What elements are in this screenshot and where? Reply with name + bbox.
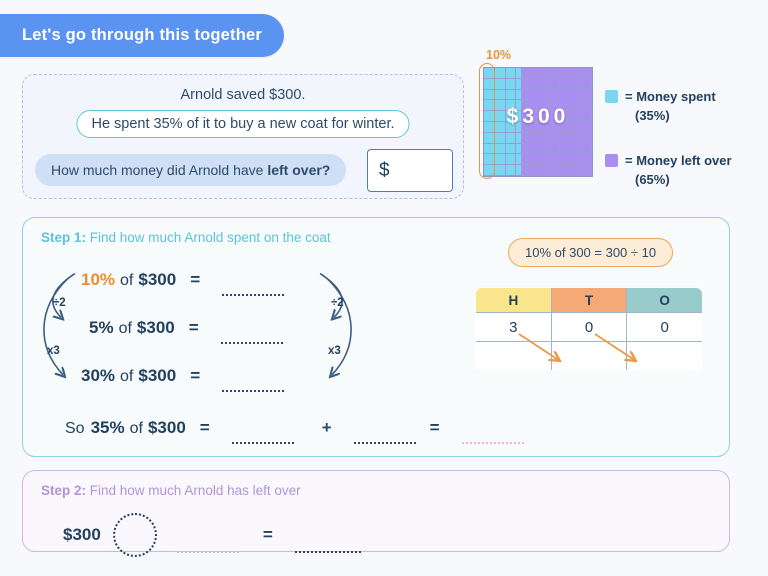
grid-cell: [538, 100, 549, 111]
grid-cell: [560, 165, 571, 176]
grid-cell: [516, 154, 527, 165]
grid-cell: [506, 154, 517, 165]
grid-cell: [549, 79, 560, 90]
grid-cell: [527, 154, 538, 165]
place-value-digit-row: 3 0 0: [476, 313, 703, 342]
step2-heading-text: Find how much Arnold has left over: [86, 483, 301, 498]
grid-cell: [581, 111, 592, 122]
legend: = Money spent (35%) = Money left over (6…: [605, 88, 765, 215]
place-value-header-hundreds: H: [476, 288, 552, 313]
grid-cell: [549, 122, 560, 133]
grid-cell: [484, 68, 495, 79]
grid-cell: [484, 100, 495, 111]
place-value-empty-row: [476, 342, 703, 371]
grid-cell: [495, 100, 506, 111]
grid-cell: [516, 90, 527, 101]
grid-cell: [549, 100, 560, 111]
equation-row-5-percent: 5% of $300 =: [89, 318, 283, 338]
hint-pill: 10% of 300 = 300 ÷ 10: [508, 238, 673, 267]
grid-cell: [516, 144, 527, 155]
grid-cell: [581, 144, 592, 155]
grid-cell: [484, 133, 495, 144]
eq2-percent: 5%: [89, 318, 114, 338]
grid-cell: [581, 133, 592, 144]
grid-cell: [495, 144, 506, 155]
eqf-of: of: [130, 420, 143, 438]
eqf-lead: So: [65, 420, 85, 438]
arrow-label-times3-right: x3: [328, 345, 341, 357]
eqf-amount: $300: [148, 418, 186, 438]
eq3-equals: =: [190, 366, 200, 386]
grid-cell: [495, 122, 506, 133]
grid-cell: [506, 111, 517, 122]
grid-cell: [549, 68, 560, 79]
grid-cell: [527, 79, 538, 90]
step2-answer-blank-1[interactable]: [177, 550, 239, 553]
grid-cell: [506, 144, 517, 155]
grid-cell: [516, 122, 527, 133]
grid-cell: [527, 68, 538, 79]
grid-cell: [581, 154, 592, 165]
grid-cell: [484, 165, 495, 176]
grid-cell: [570, 90, 581, 101]
grid-cell: [538, 144, 549, 155]
arrow-label-times3-left: x3: [47, 345, 60, 357]
grid-cell: [538, 111, 549, 122]
grid-cell: [538, 79, 549, 90]
grid-cell: [570, 68, 581, 79]
grid-cell: [495, 68, 506, 79]
grid-cell: [495, 79, 506, 90]
step2-heading: Step 2: Find how much Arnold has left ov…: [41, 483, 301, 498]
grid-cell: [484, 90, 495, 101]
place-value-empty-hundreds[interactable]: [476, 342, 552, 371]
question-prompt-pill: How much money did Arnold have left over…: [35, 154, 346, 186]
header-banner-text: Let's go through this together: [22, 26, 262, 45]
step2-equation-row: $300 =: [63, 513, 361, 557]
grid-cell: [484, 111, 495, 122]
equation-row-35-percent-total: So 35% of $300 = + =: [65, 418, 524, 438]
legend-percent-spent: (35%): [635, 107, 716, 126]
equation-row-10-percent: 10% of $300 =: [81, 270, 284, 290]
step2-answer-blank-2[interactable]: [295, 550, 361, 553]
grid-cell: [581, 68, 592, 79]
percent-grid-model: 10% $300: [483, 67, 593, 177]
grid-cell: [560, 79, 571, 90]
grid-cell: [560, 144, 571, 155]
step1-heading: Step 1: Find how much Arnold spent on th…: [41, 230, 331, 245]
grid-cell: [506, 122, 517, 133]
grid-cell: [484, 122, 495, 133]
eq2-equals: =: [189, 318, 199, 338]
question-line1: Arnold saved $300.: [23, 87, 463, 103]
question-statement-pill: He spent 35% of it to buy a new coat for…: [76, 110, 409, 138]
question-prompt-text: How much money did Arnold have: [51, 162, 267, 178]
grid-cell: [495, 165, 506, 176]
place-value-digit-tens: 0: [551, 313, 627, 342]
grid-cell: [484, 79, 495, 90]
eqf-percent: 35%: [91, 418, 125, 438]
grid-cell: [570, 111, 581, 122]
grid-cell: [506, 79, 517, 90]
grid-cell: [506, 100, 517, 111]
grid-cell: [549, 111, 560, 122]
question-prompt-emphasis: left over?: [267, 162, 330, 178]
grid-cell: [560, 122, 571, 133]
grid-cell: [506, 90, 517, 101]
eqf-equals-2: =: [430, 418, 440, 438]
grid-cell: [527, 90, 538, 101]
legend-item-spent: = Money spent (35%): [605, 88, 765, 126]
grid-cell: [527, 165, 538, 176]
grid-cell: [549, 165, 560, 176]
grid-cell: [570, 133, 581, 144]
currency-symbol: $: [379, 160, 390, 182]
step1-heading-text: Find how much Arnold spent on the coat: [86, 230, 331, 245]
grid-cell: [516, 111, 527, 122]
grid-cell: [527, 144, 538, 155]
eq3-of: of: [120, 368, 133, 386]
eq2-answer-blank[interactable]: [221, 341, 283, 344]
grid-cell: [538, 68, 549, 79]
place-value-digit-ones: 0: [627, 313, 703, 342]
equation-row-30-percent: 30% of $300 =: [81, 366, 284, 386]
grid-cell: [549, 144, 560, 155]
step2-heading-label: Step 2:: [41, 483, 86, 498]
eq1-of: of: [120, 272, 133, 290]
grid-cell: [560, 90, 571, 101]
grid-cell: [506, 165, 517, 176]
grid-cell: [506, 133, 517, 144]
grid-cell: [581, 100, 592, 111]
legend-label-spent: = Money spent: [625, 89, 716, 104]
eqf-equals: =: [200, 418, 210, 438]
step2-card: Step 2: Find how much Arnold has left ov…: [22, 470, 730, 552]
place-value-empty-ones[interactable]: [627, 342, 703, 371]
grid-cell: [549, 90, 560, 101]
place-value-header-ones: O: [627, 288, 703, 313]
grid-cell: [560, 100, 571, 111]
grid-highlight-label: 10%: [486, 48, 511, 62]
place-value-header-tens: T: [551, 288, 627, 313]
grid-cell: [527, 133, 538, 144]
arrow-label-divide2-left: ÷2: [53, 297, 66, 309]
grid-cell: [581, 165, 592, 176]
place-value-header-row: H T O: [476, 288, 703, 313]
grid-cell: [538, 154, 549, 165]
grid-cell: [516, 165, 527, 176]
grid-cell: [495, 111, 506, 122]
eq3-answer-blank[interactable]: [222, 389, 284, 392]
grid-cell: [495, 154, 506, 165]
grid-cell: [527, 111, 538, 122]
legend-percent-left: (65%): [635, 171, 732, 190]
eq1-amount: $300: [138, 270, 176, 290]
header-banner: Let's go through this together: [0, 14, 284, 57]
grid-cell: [538, 133, 549, 144]
grid-cell: [516, 133, 527, 144]
eqf-answer-blank-1[interactable]: [232, 441, 294, 444]
grid-cell: [549, 154, 560, 165]
grid-cell: [581, 90, 592, 101]
eq1-percent: 10%: [81, 270, 115, 290]
eqf-answer-blank-3[interactable]: [462, 441, 524, 444]
arrow-label-divide2-right: ÷2: [331, 297, 344, 309]
grid-cell: [516, 100, 527, 111]
grid-cell: [538, 122, 549, 133]
grid-cell: [570, 154, 581, 165]
legend-swatch-spent-icon: [605, 90, 618, 103]
grid-cell: [581, 79, 592, 90]
grid-cell: [570, 122, 581, 133]
step2-dropzone[interactable]: [113, 513, 157, 557]
grid-cell: [570, 144, 581, 155]
grid-cell: [484, 154, 495, 165]
grid-cell: [570, 100, 581, 111]
legend-label-left: = Money left over: [625, 153, 732, 168]
grid-cell: [581, 122, 592, 133]
step2-amount: $300: [63, 525, 101, 545]
grid-cell: [495, 90, 506, 101]
legend-item-left: = Money left over (65%): [605, 152, 765, 190]
eqf-plus: +: [322, 418, 332, 438]
eq1-equals: =: [190, 270, 200, 290]
grid-cell: [560, 133, 571, 144]
grid-cell: [484, 144, 495, 155]
step1-heading-label: Step 1:: [41, 230, 86, 245]
eqf-answer-blank-2[interactable]: [354, 441, 416, 444]
grid-cell: [506, 68, 517, 79]
eq2-of: of: [119, 320, 132, 338]
grid-cell: [516, 68, 527, 79]
place-value-table: H T O 3 0 0: [475, 287, 703, 371]
grid-cell: [549, 133, 560, 144]
grid-cell: [570, 79, 581, 90]
grid-cell: [560, 68, 571, 79]
eq1-answer-blank[interactable]: [222, 293, 284, 296]
step2-equals: =: [263, 525, 273, 545]
percent-grid: [483, 67, 593, 177]
step1-card: Step 1: Find how much Arnold spent on th…: [22, 217, 730, 457]
grid-cell: [527, 122, 538, 133]
grid-cell: [527, 100, 538, 111]
eq2-amount: $300: [137, 318, 175, 338]
grid-cell: [516, 79, 527, 90]
grid-cell: [538, 90, 549, 101]
place-value-digit-hundreds: 3: [476, 313, 552, 342]
grid-cell: [560, 111, 571, 122]
question-card: Arnold saved $300. He spent 35% of it to…: [22, 74, 464, 199]
legend-swatch-left-icon: [605, 154, 618, 167]
grid-cell: [560, 154, 571, 165]
eq3-amount: $300: [138, 366, 176, 386]
grid-cell: [538, 165, 549, 176]
eq3-percent: 30%: [81, 366, 115, 386]
answer-input[interactable]: $: [367, 149, 453, 192]
grid-cell: [570, 165, 581, 176]
place-value-empty-tens[interactable]: [551, 342, 627, 371]
grid-cell: [495, 133, 506, 144]
